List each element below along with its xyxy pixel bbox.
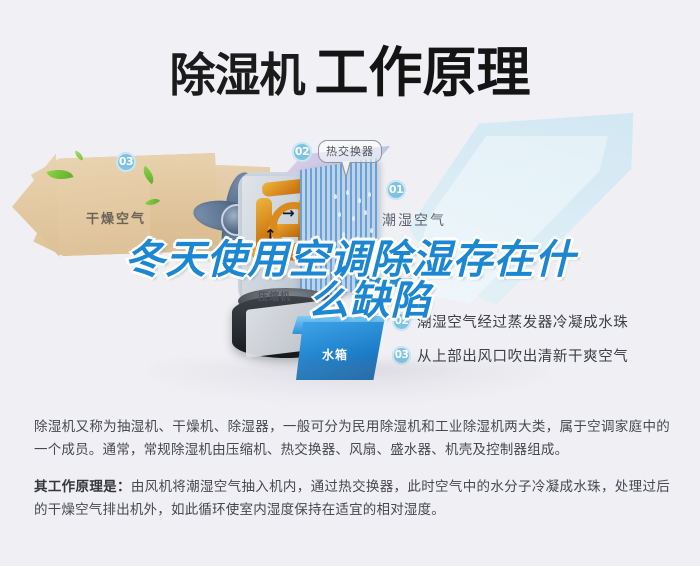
paragraph-1: 除湿机又称为抽湿机、干燥机、除湿器，一般可分为民用除湿机和工业除湿机两大类，属于… (34, 416, 670, 462)
dehumidifier-diagram: 干燥空气 → ↑ ↓ (0, 128, 700, 398)
paragraph-2-lead-in: 其工作原理是： (34, 479, 131, 495)
page-root: 除湿机工作原理 干燥空气 → ↑ ↓ (0, 0, 700, 566)
compressor-label: 压缩机 (258, 288, 291, 303)
dry-air-arrow-tip-shape (10, 153, 60, 259)
heat-exchanger-callout-bubble: 热交换器 (318, 140, 382, 163)
step-badge: 02 (392, 312, 411, 331)
page-title: 除湿机工作原理 (0, 28, 700, 107)
callout-badge-01: 01 (386, 180, 406, 200)
air-inlet-arrow-icon (368, 278, 412, 287)
flow-arrow-right-icon: → (282, 206, 295, 221)
callout-badge-02: 02 (292, 142, 312, 162)
article-body: 除湿机又称为抽湿机、干燥机、除湿器，一般可分为民用除湿机和工业除湿机两大类，属于… (34, 416, 670, 522)
paragraph-2: 其工作原理是：由风机将潮湿空气抽入机内，通过热交换器，此时空气中的水分子冷凝成水… (34, 476, 670, 522)
step-label: 潮湿空气经过蒸发器冷凝成水珠 (417, 311, 628, 332)
list-item: 02 潮湿空气经过蒸发器冷凝成水珠 (392, 304, 692, 338)
callout-badge-03: 03 (116, 152, 136, 172)
ground-shadow (150, 362, 550, 400)
humid-air-label: 潮湿空气 (382, 210, 446, 230)
water-tank-label: 水箱 (322, 346, 348, 363)
page-title-part-b: 工作原理 (315, 41, 531, 104)
flow-arrow-up-icon: ↑ (264, 228, 277, 243)
page-title-part-a: 除湿机 (170, 48, 305, 102)
condensation-droplets (330, 188, 376, 274)
dry-air-label: 干燥空气 (86, 208, 146, 227)
